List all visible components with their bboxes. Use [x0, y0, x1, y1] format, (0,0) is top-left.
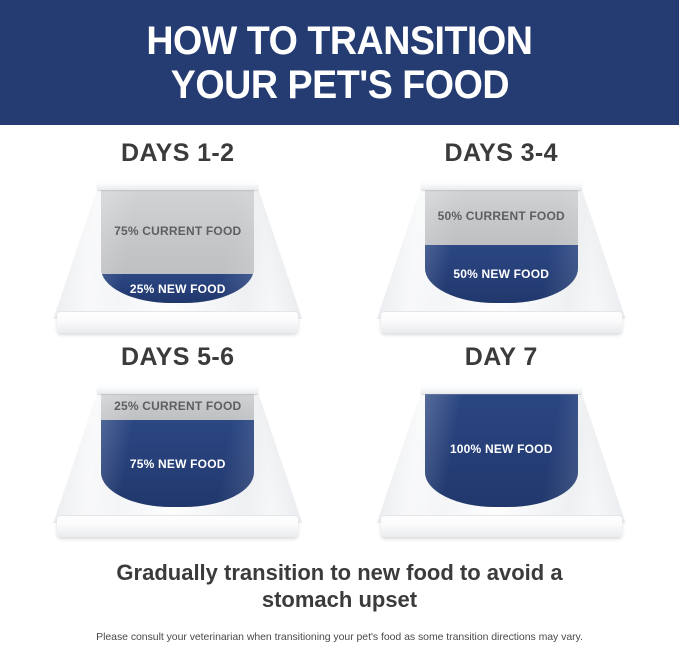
transition-steps-grid: DAYS 1-2 75% CURRENT FOOD 25% NEW FOOD D…: [0, 125, 679, 541]
pet-bowl-illustration: 25% CURRENT FOOD 75% NEW FOOD: [53, 381, 302, 541]
step-title: DAYS 1-2: [121, 139, 234, 168]
header-banner: HOW TO TRANSITION YOUR PET'S FOOD: [0, 0, 679, 125]
step-card-days-5-6: DAYS 5-6 25% CURRENT FOOD 75% NEW FOOD: [16, 343, 340, 541]
bowl-rim: [97, 179, 258, 190]
step-card-days-3-4: DAYS 3-4 50% CURRENT FOOD 50% NEW FOOD: [340, 139, 664, 337]
current-food-fill: [101, 391, 254, 420]
bowl-rim: [421, 383, 582, 394]
current-food-fill: [101, 187, 254, 274]
current-food-fill: [425, 187, 578, 245]
bowl-rim: [97, 383, 258, 394]
bowl-food-area: [425, 187, 578, 303]
step-title: DAYS 3-4: [445, 139, 558, 168]
step-card-days-1-2: DAYS 1-2 75% CURRENT FOOD 25% NEW FOOD: [16, 139, 340, 337]
new-food-fill: [425, 391, 578, 507]
step-title: DAYS 5-6: [121, 343, 234, 372]
pet-bowl-illustration: 50% CURRENT FOOD 50% NEW FOOD: [377, 177, 626, 337]
tagline: Gradually transition to new food to avoi…: [0, 559, 679, 613]
pet-bowl-illustration: 75% CURRENT FOOD 25% NEW FOOD: [53, 177, 302, 337]
bowl-base: [57, 516, 298, 537]
pet-bowl-illustration: 100% NEW FOOD: [377, 381, 626, 541]
step-title: DAY 7: [465, 343, 538, 372]
header-title-line-2: YOUR PET'S FOOD: [170, 63, 508, 107]
new-food-fill: [101, 420, 254, 507]
bowl-base: [381, 312, 622, 333]
bowl-food-area: [101, 187, 254, 303]
disclaimer-text: Please consult your veterinarian when tr…: [0, 631, 679, 643]
bowl-rim: [421, 179, 582, 190]
new-food-fill: [425, 245, 578, 303]
bowl-food-area: [425, 391, 578, 507]
header-title-line-1: HOW TO TRANSITION: [146, 19, 532, 63]
bowl-base: [57, 312, 298, 333]
step-card-day-7: DAY 7 100% NEW FOOD: [340, 343, 664, 541]
bowl-food-area: [101, 391, 254, 507]
bowl-base: [381, 516, 622, 537]
new-food-fill: [101, 274, 254, 303]
